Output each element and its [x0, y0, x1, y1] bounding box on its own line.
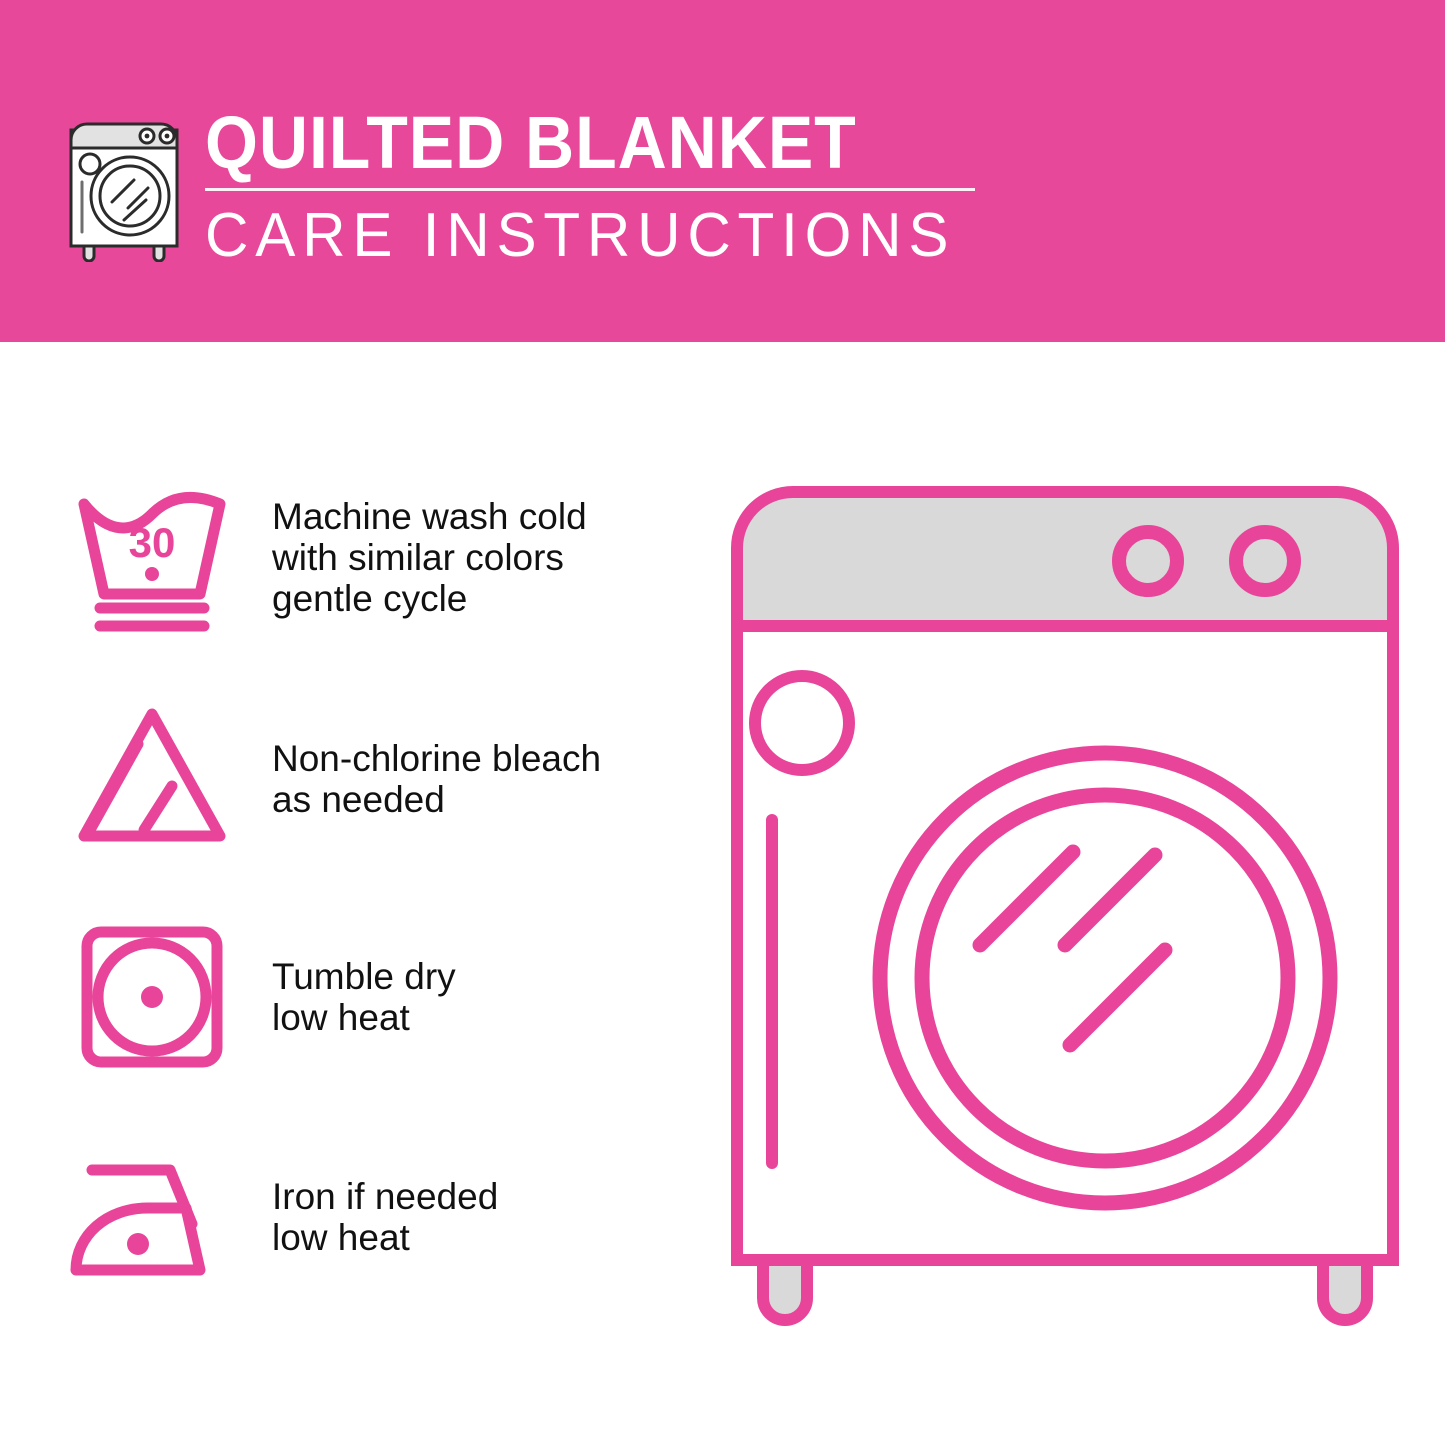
header-banner: QUILTED BLANKET CARE INSTRUCTIONS — [0, 0, 1445, 342]
title-divider — [205, 188, 975, 191]
care-row: 30 Machine wash cold with similar colors… — [0, 472, 700, 642]
non-chlorine-bleach-triangle-icon — [62, 694, 242, 864]
care-line: Iron if needed — [272, 1176, 498, 1217]
care-line: low heat — [272, 1217, 498, 1258]
header-text-block: QUILTED BLANKET CARE INSTRUCTIONS — [205, 104, 995, 264]
care-line: as needed — [272, 779, 601, 820]
machine-wash-30-icon: 30 — [62, 472, 242, 642]
washer-indicator-light — [755, 676, 849, 770]
care-line: Non-chlorine bleach — [272, 738, 601, 779]
care-row-text: Machine wash cold with similar colors ge… — [272, 496, 587, 619]
page-title: QUILTED BLANKET — [205, 104, 932, 182]
care-row: Tumble dry low heat — [0, 912, 700, 1082]
care-line: gentle cycle — [272, 578, 587, 619]
washer-door-inner — [922, 795, 1288, 1161]
care-row-text: Iron if needed low heat — [272, 1176, 498, 1258]
care-row-text: Tumble dry low heat — [272, 956, 456, 1038]
wash-temp-label: 30 — [129, 519, 176, 566]
care-row: Non-chlorine bleach as needed — [0, 694, 700, 864]
care-instruction-list: 30 Machine wash cold with similar colors… — [0, 342, 700, 1445]
care-instructions-page: QUILTED BLANKET CARE INSTRUCTIONS 30 Mac… — [0, 0, 1445, 1445]
care-line: with similar colors — [272, 537, 587, 578]
care-line: low heat — [272, 997, 456, 1038]
iron-low-heat-icon — [62, 1132, 242, 1302]
washing-machine-icon — [62, 104, 190, 262]
washer-knob — [1236, 532, 1294, 590]
care-row: Iron if needed low heat — [0, 1132, 700, 1302]
front-load-washing-machine-illustration — [715, 470, 1415, 1370]
page-subtitle: CARE INSTRUCTIONS — [205, 203, 971, 269]
care-line: Tumble dry — [272, 956, 456, 997]
care-line: Machine wash cold — [272, 496, 587, 537]
washer-knob — [1119, 532, 1177, 590]
care-row-text: Non-chlorine bleach as needed — [272, 738, 601, 820]
tumble-dry-low-icon — [62, 912, 242, 1082]
